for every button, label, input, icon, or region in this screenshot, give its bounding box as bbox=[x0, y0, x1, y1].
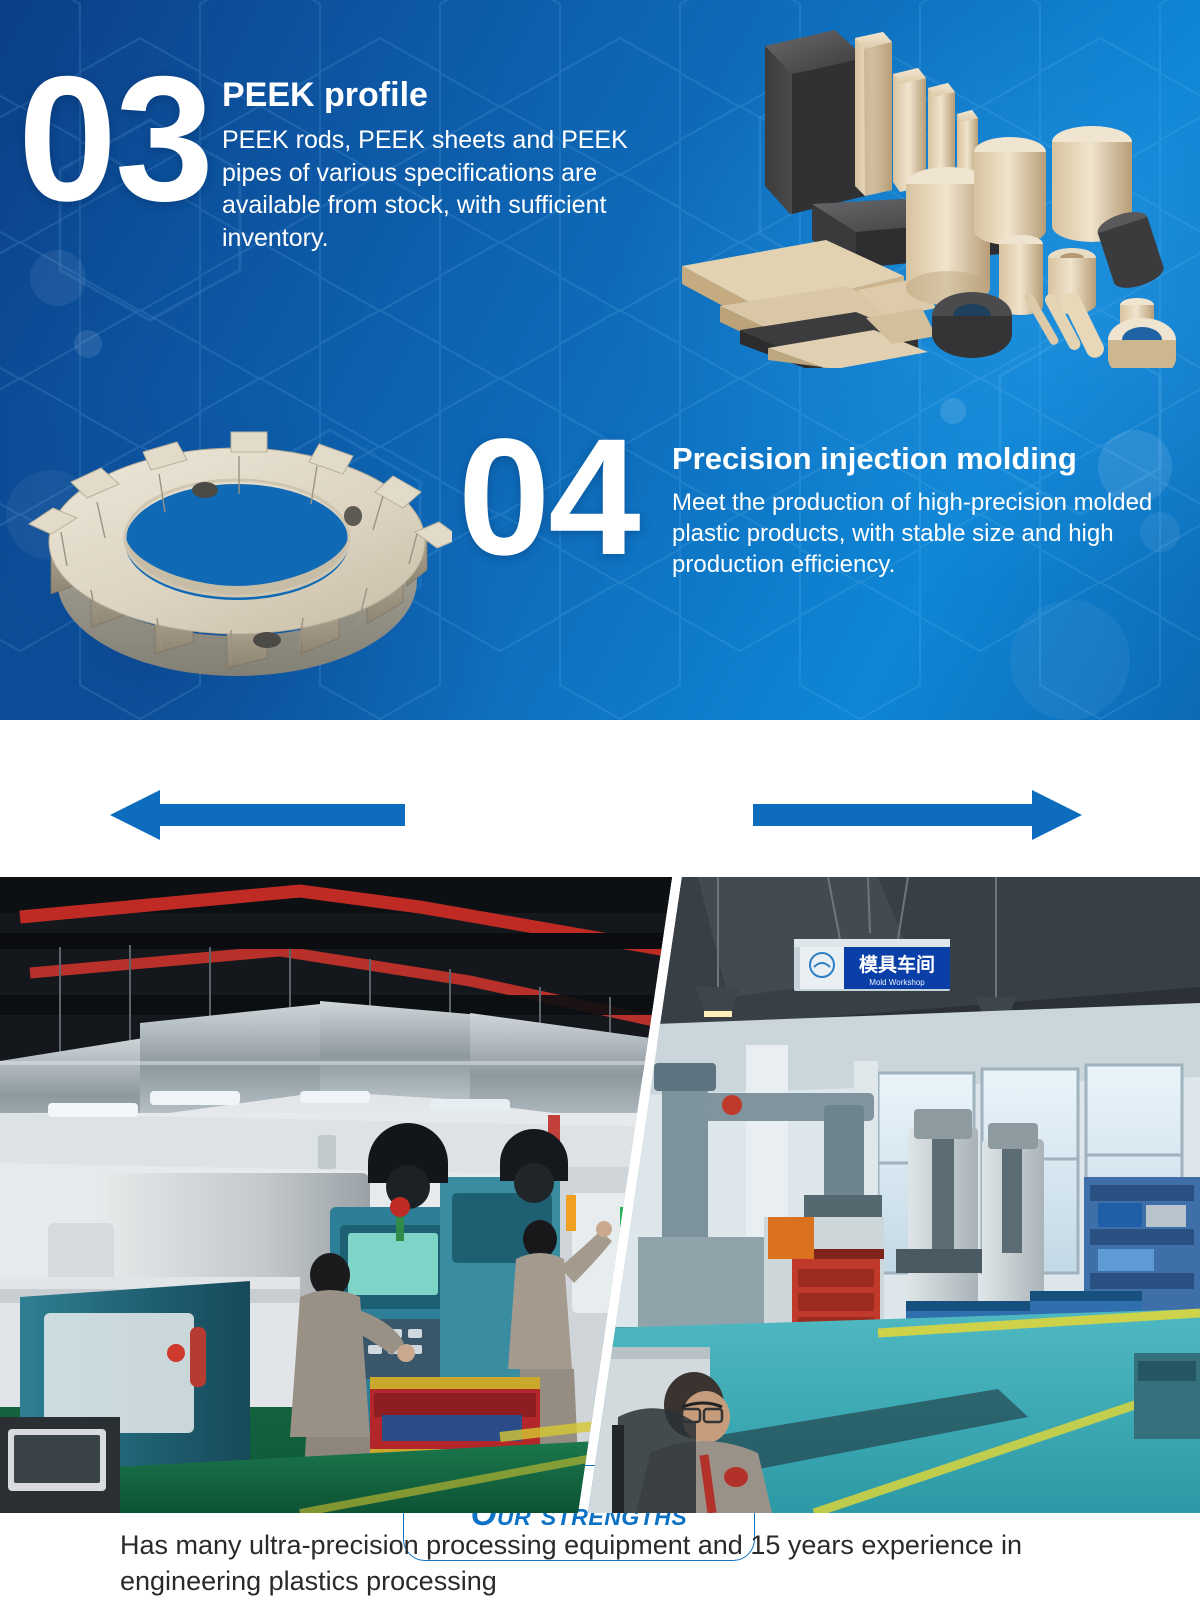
hero-panel: 03 04 PEEK profile PEEK rods, PEEK sheet… bbox=[0, 0, 1200, 720]
double-arrow-graphic bbox=[0, 720, 1200, 877]
peek-profile-product-image bbox=[660, 18, 1200, 368]
svg-text:Mold Workshop: Mold Workshop bbox=[869, 978, 925, 987]
factory-photo-strip: 模具车间 Mold Workshop bbox=[0, 877, 1200, 1513]
promo-page: 03 04 PEEK profile PEEK rods, PEEK sheet… bbox=[0, 0, 1200, 1616]
our-strengths-band: Our strengths bbox=[0, 720, 1200, 877]
feature-block-03: PEEK profile PEEK rods, PEEK sheets and … bbox=[222, 76, 662, 254]
item-number-04: 04 bbox=[458, 430, 639, 566]
photo-cnc-workshop bbox=[0, 877, 672, 1513]
feature-03-title: PEEK profile bbox=[222, 76, 662, 114]
feature-04-title: Precision injection molding bbox=[672, 442, 1172, 477]
feature-03-body: PEEK rods, PEEK sheets and PEEK pipes of… bbox=[222, 124, 662, 254]
caption-text: Has many ultra-precision processing equi… bbox=[120, 1528, 1110, 1599]
peek-gear-ring-image bbox=[22, 398, 452, 698]
feature-block-04: Precision injection molding Meet the pro… bbox=[672, 442, 1172, 580]
svg-text:模具车间: 模具车间 bbox=[859, 953, 935, 976]
photo-mold-workshop: 模具车间 Mold Workshop bbox=[578, 877, 1200, 1513]
mold-workshop-sign: 模具车间 Mold Workshop bbox=[794, 939, 950, 991]
feature-04-body: Meet the production of high-precision mo… bbox=[672, 487, 1172, 581]
item-number-03: 03 bbox=[18, 66, 212, 212]
